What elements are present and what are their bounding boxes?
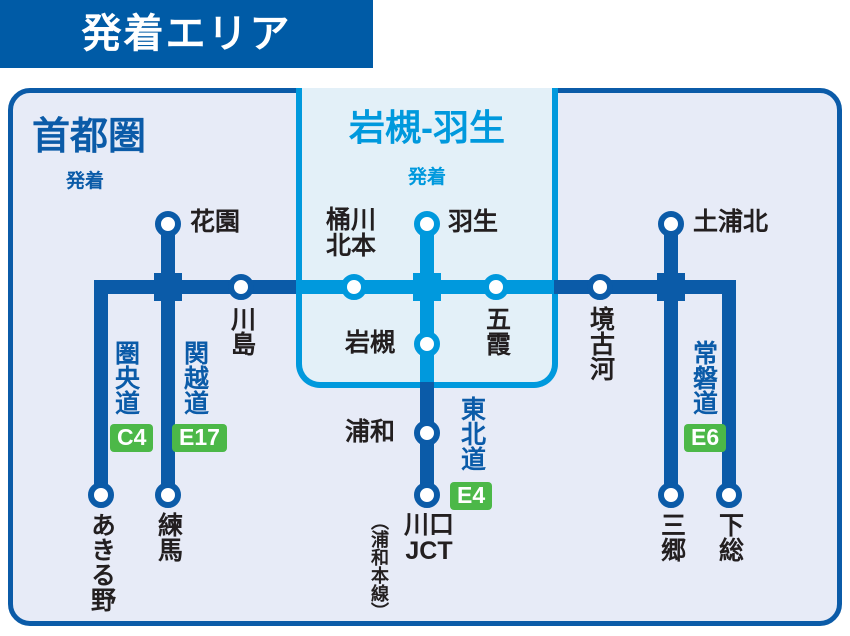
- station-label-okegawa-line1: 桶川: [326, 207, 376, 233]
- branch-nerima: [161, 287, 175, 495]
- station-label-goka: 五霞: [483, 306, 509, 356]
- station-marker-hanazono[interactable]: [155, 211, 181, 237]
- station-label-okegawa-kitamoto: 桶川 北本: [326, 207, 376, 259]
- station-label-kawaguchi-jct: 川口 JCT: [404, 512, 454, 564]
- banner-title: 発着エリア: [82, 14, 292, 54]
- station-marker-akiruno[interactable]: [88, 482, 114, 508]
- branch-misato: [664, 287, 678, 495]
- station-label-shimousa: 下総: [716, 512, 742, 562]
- station-marker-kawajima[interactable]: [228, 274, 254, 300]
- station-marker-hanyu[interactable]: [414, 211, 440, 237]
- trunk-line-right: [554, 280, 736, 294]
- station-label-tsuchiurakita: 土浦北: [693, 210, 768, 236]
- station-label-kawaguchi-line1: 川口: [404, 512, 454, 538]
- station-marker-goka[interactable]: [483, 274, 509, 300]
- header-banner: 発着エリア: [0, 0, 373, 68]
- road-badge-kenodo: C4: [110, 424, 153, 452]
- station-marker-urawa[interactable]: [414, 420, 440, 446]
- station-label-misato: 三郷: [658, 512, 684, 562]
- highlight-region-title: 岩槻-羽生: [296, 110, 558, 146]
- junction-right: [657, 273, 685, 301]
- station-marker-misato[interactable]: [658, 482, 684, 508]
- road-badge-kanetsudo: E17: [172, 424, 227, 452]
- station-marker-okegawa-kitamoto[interactable]: [341, 274, 367, 300]
- station-label-kawaguchi-line2: JCT: [404, 538, 454, 564]
- station-label-sakaikoga: 境古河: [587, 306, 613, 381]
- station-marker-iwatsuki[interactable]: [414, 331, 440, 357]
- station-label-hanazono: 花園: [190, 210, 240, 236]
- left-region-title: 首都圏: [32, 118, 146, 156]
- station-label-okegawa-line2: 北本: [326, 233, 376, 259]
- trunk-line-left: [94, 280, 299, 294]
- road-badge-tohokudo: E4: [450, 482, 492, 510]
- station-marker-tsuchiurakita[interactable]: [658, 211, 684, 237]
- station-marker-kawaguchi-jct[interactable]: [414, 482, 440, 508]
- station-label-akiruno: あきる野: [88, 512, 114, 612]
- station-label-nerima: 練馬: [155, 512, 181, 562]
- station-marker-shimousa[interactable]: [716, 482, 742, 508]
- station-label-kawajima: 川島: [228, 306, 254, 356]
- station-label-urawa: 浦和: [345, 420, 395, 446]
- road-label-kenodo: 圏央道: [112, 340, 138, 415]
- junction-center: [413, 273, 441, 301]
- road-label-kanetsudo: 関越道: [181, 340, 207, 415]
- road-label-jobando: 常磐道: [690, 340, 716, 415]
- branch-akiruno: [94, 280, 108, 495]
- branch-shimousa: [722, 280, 736, 495]
- station-sublabel-kawaguchi-note: （浦和本線）: [370, 512, 388, 620]
- junction-left: [154, 273, 182, 301]
- station-marker-sakaikoga[interactable]: [587, 274, 613, 300]
- highlight-region-subtitle: 発着: [296, 168, 558, 187]
- road-label-tohokudo: 東北道: [458, 396, 484, 471]
- station-marker-nerima[interactable]: [155, 482, 181, 508]
- road-badge-jobando: E6: [684, 424, 726, 452]
- left-region-subtitle: 発着: [66, 172, 104, 191]
- station-label-iwatsuki: 岩槻: [345, 331, 395, 357]
- route-map-diagram: 発着エリア 岩槻-羽生 発着 首都圏 発着 花園: [0, 0, 850, 636]
- station-label-hanyu: 羽生: [448, 210, 498, 236]
